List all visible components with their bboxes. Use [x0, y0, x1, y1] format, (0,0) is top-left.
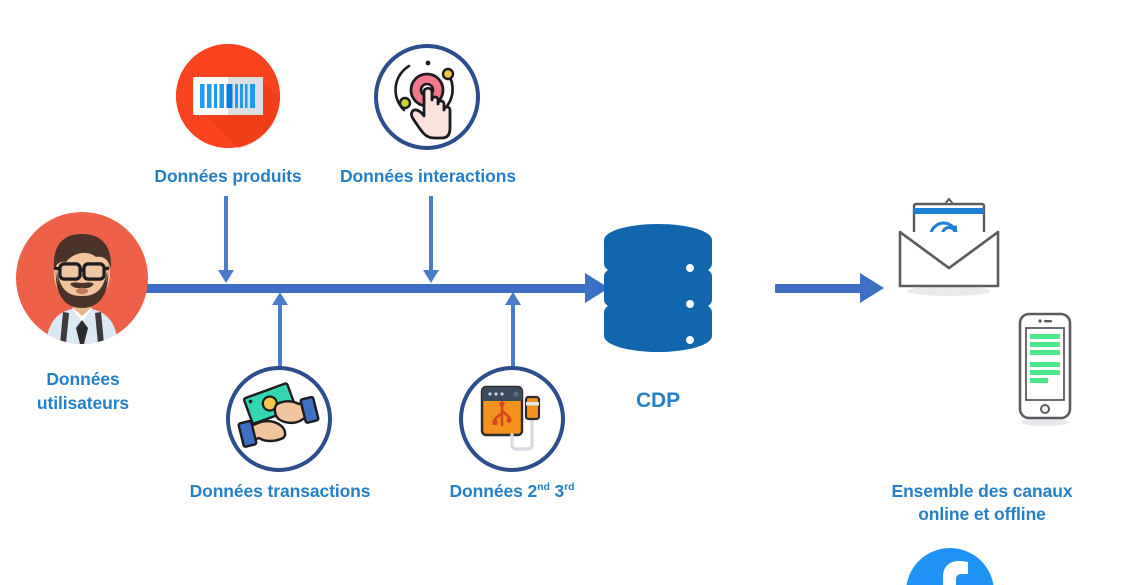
email-art	[890, 198, 1008, 298]
produits-connector-arrow	[218, 270, 234, 283]
source-label-produits: Données produits	[128, 165, 328, 187]
source-label-interactions: Données interactions	[322, 165, 534, 187]
user-source-label-line1: Données	[10, 368, 156, 390]
money-hands-art	[237, 380, 321, 458]
cdp-to-channels-line	[775, 284, 863, 293]
second-third-num3: 3	[555, 481, 565, 501]
channels-caption-line2: online et offline	[846, 503, 1118, 525]
usb-drive-icon	[459, 366, 565, 472]
cdp-label: CDP	[598, 388, 718, 415]
produits-connector-line	[224, 196, 228, 272]
facebook-icon	[906, 548, 994, 585]
second-third-sup3: rd	[564, 481, 574, 493]
interactions-connector-arrow	[423, 270, 439, 283]
usb-drive-art	[472, 379, 552, 459]
facebook-art	[906, 548, 994, 585]
second-third-connector-line	[511, 303, 515, 369]
second-third-sup2: nd	[537, 481, 550, 493]
channels-caption-line1: Ensemble des canaux	[846, 480, 1118, 502]
transactions-connector-line	[278, 303, 282, 369]
database-cylinder-icon	[600, 214, 716, 364]
second-third-prefix: Données	[450, 481, 528, 501]
second-third-num2: 2	[527, 481, 537, 501]
user-source-label-line2: utilisateurs	[10, 392, 156, 414]
source-label-second-third: Données 2nd 3rd	[430, 480, 594, 502]
smartphone-art	[1014, 312, 1076, 428]
avatar-art	[16, 212, 148, 344]
smartphone-icon	[1014, 312, 1076, 428]
cdp-to-channels-arrowhead	[860, 273, 884, 303]
source-label-transactions: Données transactions	[168, 480, 392, 502]
interactions-connector-line	[429, 196, 433, 272]
database-art	[600, 214, 716, 364]
tap-target-art	[384, 54, 470, 140]
diagram-canvas: Données utilisateurs Données produits	[0, 0, 1125, 585]
email-envelope-icon	[890, 198, 1008, 298]
user-source-group	[16, 212, 148, 344]
money-hands-icon	[226, 366, 332, 472]
tap-target-icon	[374, 44, 480, 150]
user-avatar-icon	[16, 212, 148, 344]
barcode-art	[176, 44, 280, 148]
barcode-icon	[176, 44, 280, 148]
